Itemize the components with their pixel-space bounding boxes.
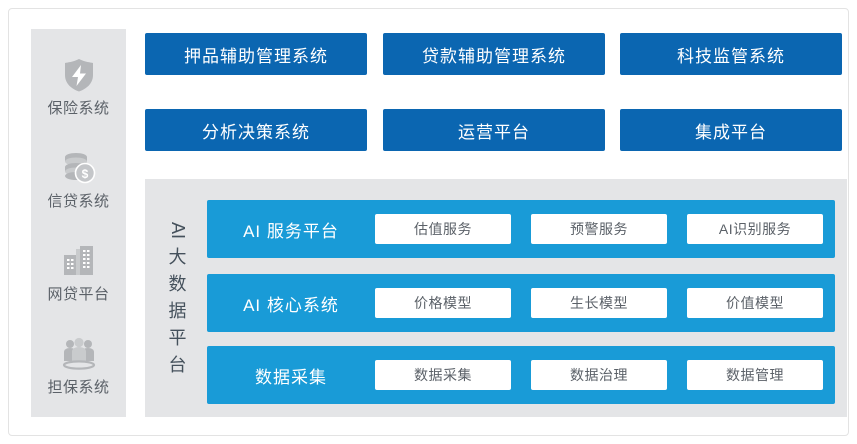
ai-row-title: AI 服务平台 bbox=[207, 217, 375, 242]
architecture-diagram: 保险系统 $ 信贷系统 bbox=[8, 8, 849, 436]
chip-alert-service[interactable]: 预警服务 bbox=[531, 214, 667, 244]
sidebar-item-online-lending[interactable]: 网贷平台 bbox=[31, 239, 126, 305]
sidebar-item-label: 网贷平台 bbox=[47, 285, 109, 305]
ai-platform-label-ai: AI bbox=[164, 222, 191, 239]
system-bar-operations-platform[interactable]: 运营平台 bbox=[383, 109, 605, 151]
ai-row-title: AI 核心系统 bbox=[207, 291, 375, 316]
ai-platform-label-char: 台 bbox=[169, 352, 188, 379]
chip-ai-recognition-service[interactable]: AI识别服务 bbox=[687, 214, 823, 244]
sidebar-item-guarantee[interactable]: 担保系统 bbox=[31, 332, 126, 398]
chip-data-management[interactable]: 数据管理 bbox=[687, 360, 823, 390]
chip-data-collection[interactable]: 数据采集 bbox=[375, 360, 511, 390]
ai-row-data-collection[interactable]: 数据采集 数据采集 数据治理 数据管理 bbox=[207, 346, 835, 404]
sidebar: 保险系统 $ 信贷系统 bbox=[31, 29, 126, 417]
ai-bigdata-platform-panel: AI 大 数 据 平 台 AI 服务平台 估值服务 预警服务 AI识别服务 AI… bbox=[145, 179, 847, 417]
people-group-icon bbox=[57, 332, 101, 376]
chip-price-model[interactable]: 价格模型 bbox=[375, 288, 511, 318]
ai-platform-label-char: 大 bbox=[169, 244, 188, 271]
system-bar-integration-platform[interactable]: 集成平台 bbox=[620, 109, 842, 151]
chip-growth-model[interactable]: 生长模型 bbox=[531, 288, 667, 318]
chip-value-model[interactable]: 价值模型 bbox=[687, 288, 823, 318]
ai-platform-label-char: 数 bbox=[169, 271, 188, 298]
ai-row-title: 数据采集 bbox=[207, 363, 375, 388]
chip-valuation-service[interactable]: 估值服务 bbox=[375, 214, 511, 244]
sidebar-item-insurance[interactable]: 保险系统 bbox=[31, 53, 126, 119]
sidebar-item-label: 保险系统 bbox=[47, 99, 109, 119]
system-bar-collateral-aux-management[interactable]: 押品辅助管理系统 bbox=[145, 33, 367, 75]
ai-row-chips: 价格模型 生长模型 价值模型 bbox=[375, 288, 835, 318]
coins-dollar-icon: $ bbox=[57, 146, 101, 190]
sidebar-item-label: 担保系统 bbox=[47, 378, 109, 398]
svg-text:$: $ bbox=[81, 167, 88, 181]
shield-bolt-icon bbox=[57, 53, 101, 97]
chip-data-governance[interactable]: 数据治理 bbox=[531, 360, 667, 390]
buildings-icon bbox=[57, 239, 101, 283]
ai-row-service-platform[interactable]: AI 服务平台 估值服务 预警服务 AI识别服务 bbox=[207, 200, 835, 258]
system-bar-analysis-decision[interactable]: 分析决策系统 bbox=[145, 109, 367, 151]
ai-platform-vertical-label: AI 大 数 据 平 台 bbox=[155, 191, 201, 405]
ai-row-chips: 估值服务 预警服务 AI识别服务 bbox=[375, 214, 835, 244]
ai-platform-label-char: 据 bbox=[169, 298, 188, 325]
ai-platform-label-char: 平 bbox=[169, 325, 188, 352]
sidebar-item-credit[interactable]: $ 信贷系统 bbox=[31, 146, 126, 212]
system-bar-loan-aux-management[interactable]: 贷款辅助管理系统 bbox=[383, 33, 605, 75]
ai-row-core-system[interactable]: AI 核心系统 价格模型 生长模型 价值模型 bbox=[207, 274, 835, 332]
ai-row-chips: 数据采集 数据治理 数据管理 bbox=[375, 360, 835, 390]
system-bar-tech-supervision[interactable]: 科技监管系统 bbox=[620, 33, 842, 75]
sidebar-item-label: 信贷系统 bbox=[47, 192, 109, 212]
